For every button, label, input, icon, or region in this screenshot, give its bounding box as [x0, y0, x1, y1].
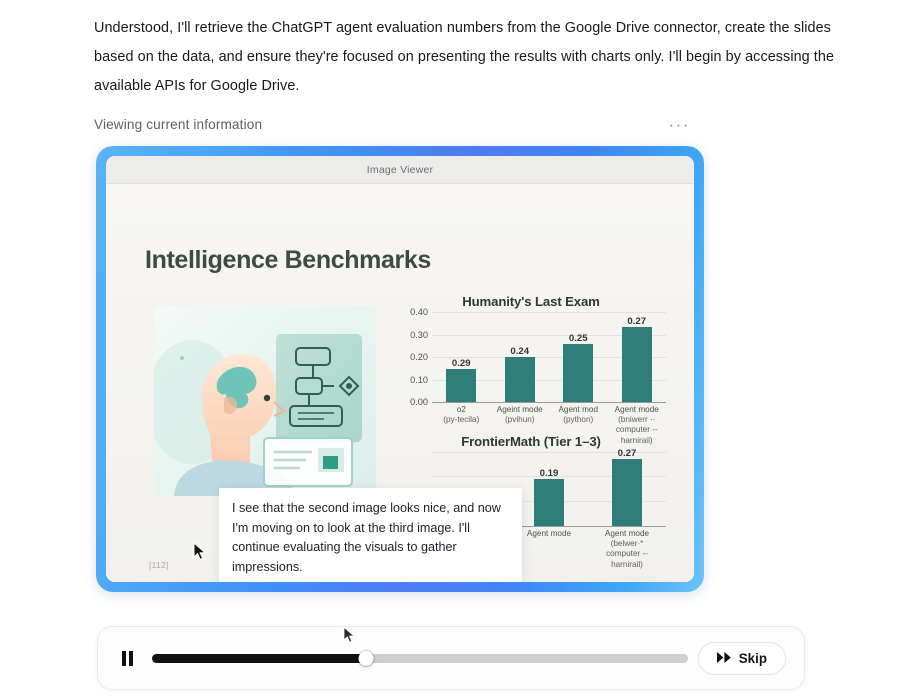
slide-canvas: Intelligence Benchmarks	[106, 184, 694, 582]
pause-icon[interactable]	[116, 651, 138, 666]
bar-value-label: 0.24	[510, 346, 529, 357]
bar-item: 0.29	[446, 312, 476, 402]
skip-button-label: Skip	[739, 651, 767, 666]
ellipsis-icon[interactable]: ···	[665, 119, 694, 131]
bar	[534, 479, 564, 526]
x-tick-label: Agent mode	[518, 529, 580, 539]
y-tick: 0.10	[410, 375, 428, 385]
viewer-window-title: Image Viewer	[367, 164, 434, 176]
bar-value-label: 0.27	[618, 448, 637, 459]
bar-value-label: 0.29	[452, 358, 471, 369]
image-viewer-window: Image Viewer Intelligence Benchmarks	[106, 156, 694, 582]
y-tick: 0.40	[410, 307, 428, 317]
bar	[446, 369, 476, 402]
bar-item: 0.27	[612, 452, 642, 526]
progress-knob[interactable]	[359, 651, 374, 666]
bar-item: 0.25	[563, 312, 593, 402]
narration-tooltip: I see that the second image looks nice, …	[219, 488, 522, 582]
image-viewer-frame: Image Viewer Intelligence Benchmarks	[96, 146, 704, 592]
x-tick-label: Agent mod (python)	[549, 405, 608, 425]
mouse-cursor-icon	[193, 542, 207, 566]
assistant-message: Understood, I'll retrieve the ChatGPT ag…	[94, 14, 844, 101]
playback-control-bar: Skip	[97, 626, 805, 690]
bar	[563, 344, 593, 402]
bar-item: 0.19	[534, 452, 564, 526]
progress-fill	[152, 654, 366, 663]
tool-status-label: Viewing current information	[94, 117, 262, 132]
skip-button[interactable]: Skip	[698, 642, 786, 675]
x-tick-label: Agent mode (belwer·* computer --harnirai…	[596, 529, 658, 570]
y-tick: 0.00	[410, 397, 428, 407]
progress-slider[interactable]	[152, 648, 688, 668]
x-tick-label: Ageint mode (pvihun)	[491, 405, 550, 425]
bar-value-label: 0.25	[569, 333, 588, 344]
y-tick: 0.30	[410, 330, 428, 340]
bar-group: 0.29 0.24 0.25	[432, 312, 666, 402]
bar-item: 0.27	[622, 312, 652, 402]
viewer-titlebar: Image Viewer	[106, 156, 694, 184]
x-tick-label: o2 (py-tecila)	[432, 405, 491, 425]
screen: Understood, I'll retrieve the ChatGPT ag…	[0, 0, 897, 699]
bar	[622, 327, 652, 402]
y-tick: 0.20	[410, 352, 428, 362]
bar-value-label: 0.19	[540, 468, 559, 479]
y-axis: 0.00 0.10 0.20 0.30 0.40	[396, 312, 430, 402]
chart-plot-area: 0.00 0.10 0.20 0.30 0.40 0.29	[396, 312, 666, 402]
chart-humanitys-last-exam: Humanity's Last Exam 0.00 0.10 0.20 0.30…	[396, 294, 666, 446]
head-profile-brain-illustration	[154, 306, 376, 496]
bar-value-label: 0.27	[627, 316, 646, 327]
slide-footnote: [112]	[149, 560, 169, 570]
fast-forward-icon	[717, 651, 732, 666]
tool-header: Viewing current information ···	[94, 117, 694, 132]
mouse-cursor-icon	[343, 626, 356, 649]
slide-title: Intelligence Benchmarks	[145, 246, 431, 275]
bar	[612, 459, 642, 526]
chart-title: Humanity's Last Exam	[396, 294, 666, 309]
chart-title: FrontierMath (Tier 1–3)	[396, 434, 666, 449]
bar-item: 0.24	[505, 312, 535, 402]
bar	[505, 357, 535, 402]
